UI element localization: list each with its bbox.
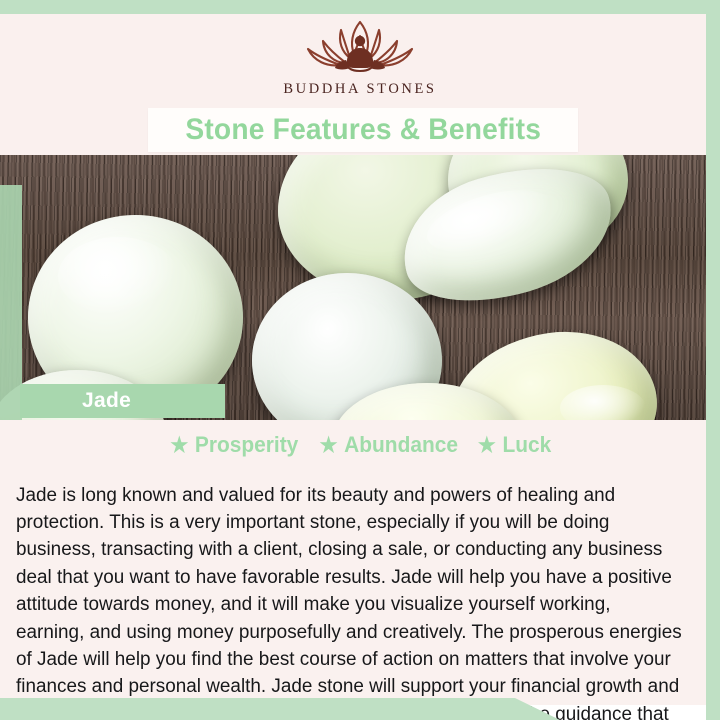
frame-right-bar (706, 0, 720, 720)
section-title-banner: Stone Features & Benefits (148, 108, 578, 152)
frame-top-bar (0, 0, 720, 14)
star-icon: ★ (320, 435, 338, 456)
lotus-meditation-figure-icon (294, 16, 426, 78)
keyword-label: Abundance (344, 432, 458, 458)
keyword-label: Luck (502, 432, 551, 458)
keyword-row: ★ Prosperity ★ Abundance ★ Luck (0, 432, 720, 458)
stone-description: Jade is long known and valued for its be… (16, 482, 684, 720)
keyword-label: Prosperity (195, 432, 298, 458)
brand-name: BUDDHA STONES (0, 81, 720, 98)
jade-stones-photo (0, 155, 720, 420)
frame-bottom-bar (0, 698, 560, 720)
star-icon: ★ (477, 435, 495, 456)
keyword-prosperity: ★ Prosperity (171, 432, 299, 458)
stone-info-card: Jade BUDDHA STONES Stone Fea (0, 0, 720, 720)
left-accent-strip (0, 185, 22, 420)
star-icon: ★ (171, 435, 189, 456)
stone-name-label: Jade (20, 384, 225, 418)
brand-logo: BUDDHA STONES (0, 16, 720, 98)
keyword-abundance: ★ Abundance (320, 432, 458, 458)
keyword-luck: ★ Luck (477, 432, 550, 458)
page-title: Stone Features & Benefits (185, 113, 541, 147)
stone-name-band: Jade (20, 384, 225, 418)
